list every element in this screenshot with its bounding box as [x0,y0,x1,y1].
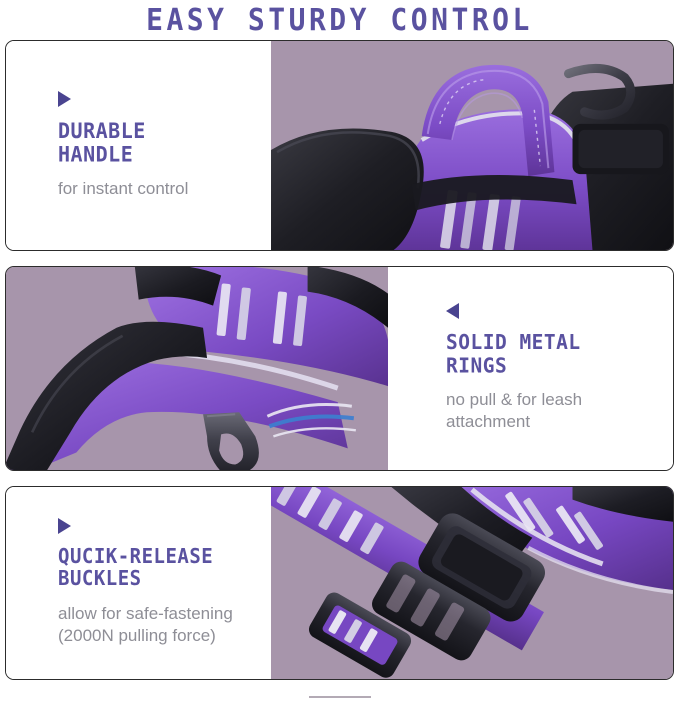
bottom-divider [309,696,371,698]
product-photo-harness-handle [271,41,673,250]
panel-heading: SOLID METAL RINGS [446,331,663,377]
panel-heading: DURABLE HANDLE [58,119,261,166]
product-photo-metal-ring [6,267,388,470]
feature-panel-solid-metal-rings: SOLID METAL RINGS no pull & for leash at… [5,266,674,471]
page-title: EASY STURDY CONTROL [0,0,679,40]
product-photo-buckle [271,487,673,679]
feature-panel-durable-handle: DURABLE HANDLE for instant control [5,40,674,251]
panel-text-block: SOLID METAL RINGS no pull & for leash at… [388,267,673,470]
triangle-left-icon [446,303,459,319]
panel-subtitle: allow for safe-fastening (2000N pulling … [58,603,261,648]
triangle-right-icon [58,518,71,534]
panel-subtitle: no pull & for leash attachment [446,389,663,434]
panel-text-block: DURABLE HANDLE for instant control [6,41,271,250]
feature-panel-quick-release-buckles: QUCIK-RELEASE BUCKLES allow for safe-fas… [5,486,674,680]
triangle-right-icon [58,91,71,107]
panel-text-block: QUCIK-RELEASE BUCKLES allow for safe-fas… [6,487,271,679]
panel-heading: QUCIK-RELEASE BUCKLES [58,546,261,591]
infographic-page: EASY STURDY CONTROL DURABLE HANDLE for i… [0,0,679,705]
panel-subtitle: for instant control [58,178,261,200]
